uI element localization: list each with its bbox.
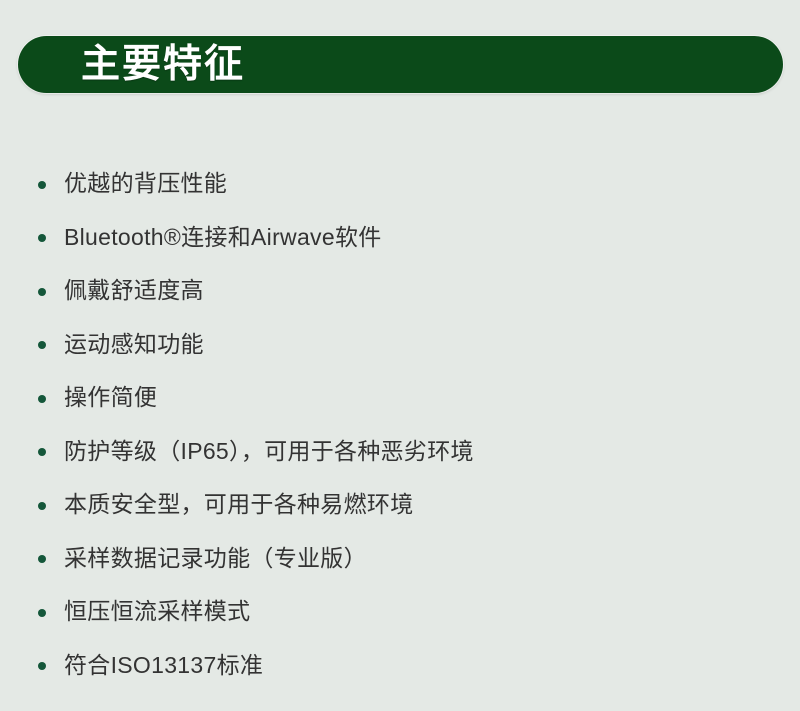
bullet-dot-icon (38, 234, 46, 242)
feature-label: 操作简便 (64, 383, 157, 412)
bullet-dot-icon (38, 181, 46, 189)
list-item: 操作简便 (38, 371, 778, 425)
bullet-dot-icon (38, 395, 46, 403)
bullet-dot-icon (38, 502, 46, 510)
list-item: 恒压恒流采样模式 (38, 585, 778, 639)
section-header-banner: 主要特征 (18, 36, 783, 93)
list-item: 运动感知功能 (38, 318, 778, 372)
feature-label: Bluetooth®连接和Airwave软件 (64, 223, 382, 252)
bullet-dot-icon (38, 448, 46, 456)
bullet-dot-icon (38, 288, 46, 296)
bullet-dot-icon (38, 609, 46, 617)
feature-label: 优越的背压性能 (64, 169, 227, 198)
list-item: 符合ISO13137标准 (38, 639, 778, 693)
feature-label: 防护等级（IP65），可用于各种恶劣环境 (64, 437, 474, 466)
feature-list: 优越的背压性能 Bluetooth®连接和Airwave软件 佩戴舒适度高 运动… (38, 157, 778, 692)
list-item: 优越的背压性能 (38, 157, 778, 211)
list-item: Bluetooth®连接和Airwave软件 (38, 211, 778, 265)
feature-highlights-page: 主要特征 优越的背压性能 Bluetooth®连接和Airwave软件 佩戴舒适… (0, 0, 800, 711)
feature-label: 恒压恒流采样模式 (64, 597, 250, 626)
list-item: 采样数据记录功能（专业版） (38, 532, 778, 586)
bullet-dot-icon (38, 555, 46, 563)
list-item: 防护等级（IP65），可用于各种恶劣环境 (38, 425, 778, 479)
feature-label: 采样数据记录功能（专业版） (64, 544, 367, 573)
list-item: 佩戴舒适度高 (38, 264, 778, 318)
bullet-dot-icon (38, 662, 46, 670)
feature-label: 本质安全型，可用于各种易燃环境 (64, 490, 414, 519)
list-item: 本质安全型，可用于各种易燃环境 (38, 478, 778, 532)
bullet-dot-icon (38, 341, 46, 349)
feature-label: 符合ISO13137标准 (64, 651, 263, 680)
feature-label: 佩戴舒适度高 (64, 276, 204, 305)
feature-label: 运动感知功能 (64, 330, 204, 359)
page-title: 主要特征 (81, 45, 245, 84)
